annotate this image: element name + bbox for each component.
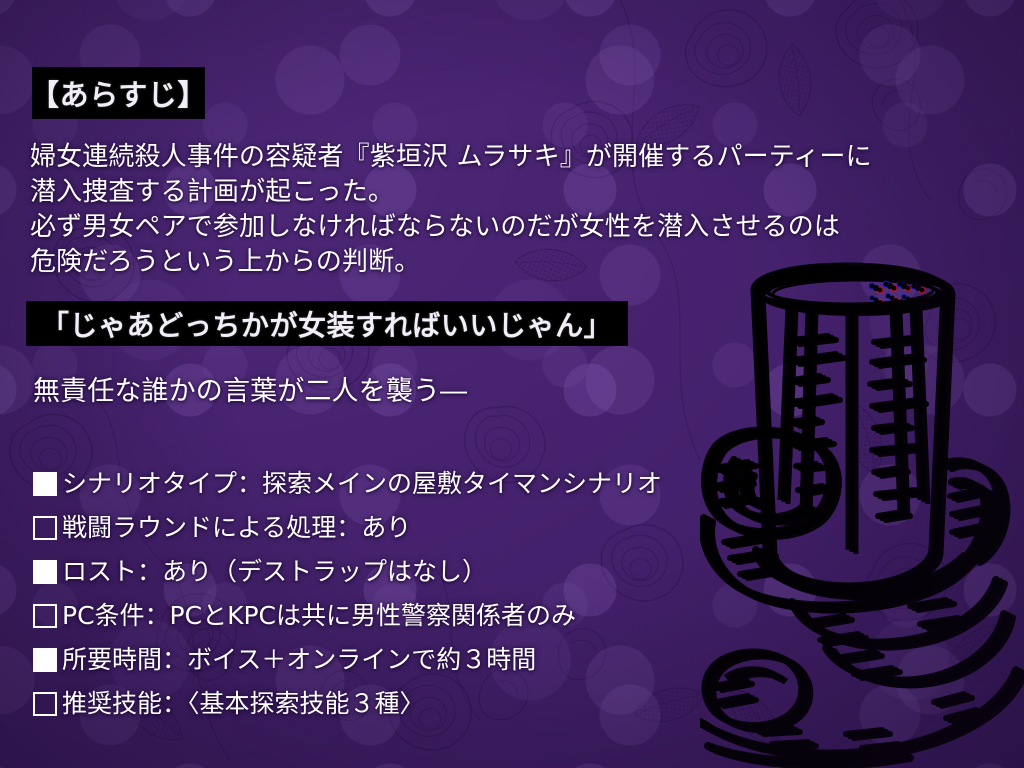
hollow-square-icon bbox=[33, 604, 57, 628]
spec-item-label: 所要時間：ボイス＋オンラインで約３時間 bbox=[62, 638, 536, 682]
scenario-spec-list: シナリオタイプ：探索メインの屋敷タイマンシナリオ 戦闘ラウンドによる処理：あり … bbox=[33, 462, 993, 726]
spec-item-label: 戦闘ラウンドによる処理：あり bbox=[62, 506, 411, 550]
quote-text: 「じゃあどっちかが女装すればいいじゃん」 bbox=[41, 304, 612, 344]
spec-item-label: ロスト：あり（デストラップはなし） bbox=[62, 550, 487, 594]
synopsis-paragraph: 婦女連続殺人事件の容疑者『紫垣沢 ムラサキ』が開催するパーティーに 潜入捜査する… bbox=[30, 140, 990, 280]
spec-item: 戦闘ラウンドによる処理：あり bbox=[33, 506, 993, 550]
quote-label-box: 「じゃあどっちかが女装すればいいじゃん」 bbox=[27, 302, 627, 345]
hollow-square-icon bbox=[33, 692, 57, 716]
spec-item: ロスト：あり（デストラップはなし） bbox=[33, 550, 993, 594]
spec-item-label: 推奨技能：〈基本探索技能３種〉 bbox=[62, 682, 425, 726]
filled-square-icon bbox=[33, 560, 57, 584]
hollow-square-icon bbox=[33, 516, 57, 540]
spec-item: PC条件：PCとKPCは共に男性警察関係者のみ bbox=[33, 594, 993, 638]
spec-item-label: シナリオタイプ：探索メインの屋敷タイマンシナリオ bbox=[62, 462, 662, 506]
filled-square-icon bbox=[33, 472, 57, 496]
filled-square-icon bbox=[33, 648, 57, 672]
spec-item: 推奨技能：〈基本探索技能３種〉 bbox=[33, 682, 993, 726]
content-layer: 【あらすじ】 婦女連続殺人事件の容疑者『紫垣沢 ムラサキ』が開催するパーティーに… bbox=[0, 0, 1024, 768]
spec-item: 所要時間：ボイス＋オンラインで約３時間 bbox=[33, 638, 993, 682]
tagline-text: 無責任な誰かの言葉が二人を襲う― bbox=[33, 374, 467, 409]
spec-item: シナリオタイプ：探索メインの屋敷タイマンシナリオ bbox=[33, 462, 993, 506]
spec-item-label: PC条件：PCとKPCは共に男性警察関係者のみ bbox=[62, 594, 576, 638]
heading-synopsis-text: 【あらすじ】 bbox=[30, 72, 207, 114]
heading-synopsis-label-box: 【あらすじ】 bbox=[33, 68, 204, 118]
scenario-promo-image: 【あらすじ】 婦女連続殺人事件の容疑者『紫垣沢 ムラサキ』が開催するパーティーに… bbox=[0, 0, 1024, 768]
